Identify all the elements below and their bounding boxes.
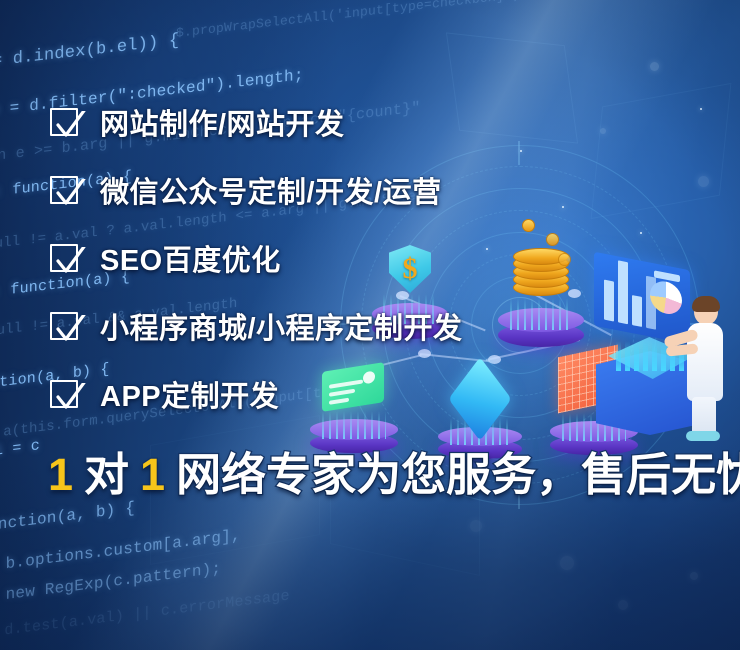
checklist-item-4[interactable]: 小程序商城/小程序定制开发 [50, 304, 463, 348]
checkbox-checked-icon[interactable] [50, 176, 78, 204]
tagline-number-first: 1 [48, 452, 73, 497]
tagline-number-second: 1 [140, 452, 165, 497]
checklist-item-3[interactable]: SEO百度优化 [50, 236, 281, 280]
checklist-item-1[interactable]: 网站制作/网站开发 [50, 100, 345, 144]
checkbox-checked-icon[interactable] [50, 108, 78, 136]
tagline-rest-text: 网络专家为您服务，售后无忧！ [176, 452, 740, 497]
tagline: 1 对 1 网络专家为您服务，售后无忧！ [48, 452, 740, 497]
checklist-item-label: 小程序商城/小程序定制开发 [100, 305, 463, 347]
promo-banner: $.propWrapSelectAll('input[type=checkbox… [0, 0, 740, 650]
checkbox-checked-icon[interactable] [50, 380, 78, 408]
checklist-item-5[interactable]: APP定制开发 [50, 372, 279, 416]
checklist-item-label: SEO百度优化 [100, 237, 281, 279]
checklist-item-label: 网站制作/网站开发 [100, 101, 345, 143]
checklist-item-label: 微信公众号定制/开发/运营 [100, 169, 442, 211]
checkbox-checked-icon[interactable] [50, 244, 78, 272]
checkbox-checked-icon[interactable] [50, 312, 78, 340]
checklist-item-2[interactable]: 微信公众号定制/开发/运营 [50, 168, 442, 212]
checklist-item-label: APP定制开发 [100, 373, 279, 415]
tagline-word-mid: 对 [84, 452, 129, 497]
